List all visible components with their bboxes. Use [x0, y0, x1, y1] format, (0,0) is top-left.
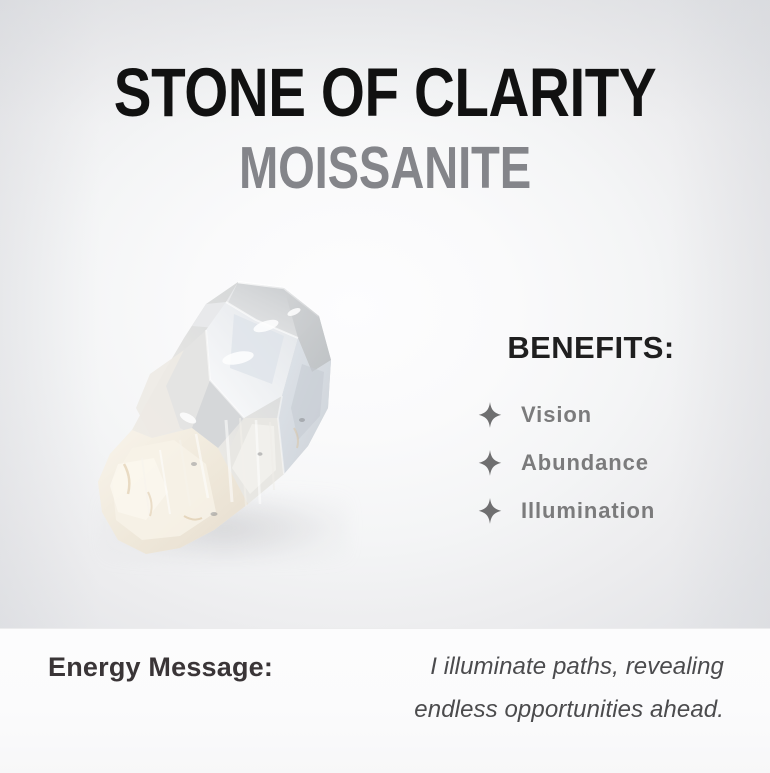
benefit-item-abundance: Abundance — [455, 450, 735, 476]
benefits-heading: BENEFITS: — [455, 330, 735, 366]
sparkle-icon — [477, 498, 503, 524]
energy-message-band: Energy Message: I illuminate paths, reve… — [0, 628, 770, 773]
benefit-item-illumination: Illumination — [455, 498, 735, 524]
card-header: STONE OF CLARITY MOISSANITE — [0, 57, 770, 199]
benefit-item-vision: Vision — [455, 402, 735, 428]
sparkle-icon — [477, 402, 503, 428]
crystal-stone-icon — [88, 268, 398, 578]
energy-message-text-line-2: endless opportunities ahead. — [414, 696, 724, 723]
energy-message-content: Energy Message: I illuminate paths, reve… — [48, 647, 724, 733]
benefit-label: Abundance — [521, 450, 649, 476]
stone-info-card: STONE OF CLARITY MOISSANITE — [0, 0, 770, 773]
benefit-label: Illumination — [521, 498, 655, 524]
stone-name-subtitle: MOISSANITE — [77, 137, 693, 199]
energy-message-text-line-1: I illuminate paths, revealing — [430, 653, 724, 680]
stone-image — [88, 268, 398, 588]
page-title: STONE OF CLARITY — [69, 57, 700, 129]
energy-message-label: Energy Message: — [48, 647, 273, 687]
energy-message-line-2: endless opportunities ahead. — [48, 690, 724, 733]
sparkle-icon — [477, 450, 503, 476]
benefit-label: Vision — [521, 402, 592, 428]
benefits-section: BENEFITS: Vision Abundance Illumination — [455, 330, 735, 546]
energy-message-line-1: Energy Message: I illuminate paths, reve… — [48, 647, 724, 690]
